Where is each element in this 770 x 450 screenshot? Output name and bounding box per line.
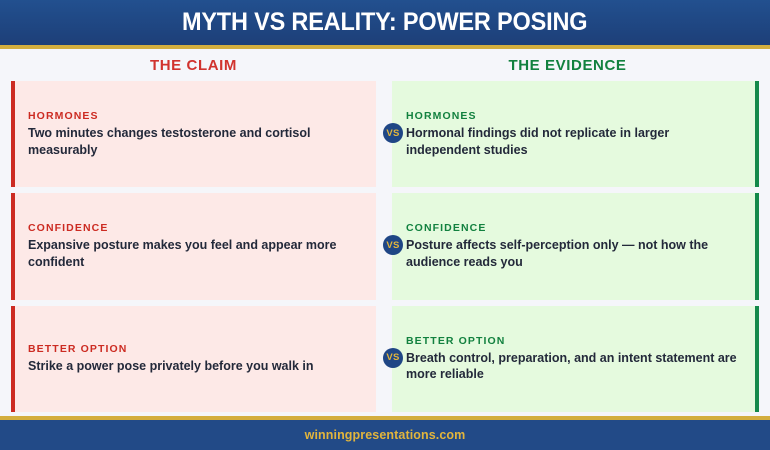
evidence-card-kicker: BETTER OPTION [406,335,737,347]
comparison-row: BETTER OPTION Strike a power pose privat… [11,306,759,412]
comparison-row: CONFIDENCE Expansive posture makes you f… [11,193,759,299]
header-bar: MYTH VS REALITY: POWER POSING [0,0,770,45]
evidence-card-kicker: CONFIDENCE [406,222,737,234]
infographic-poster: MYTH VS REALITY: POWER POSING THE CLAIM … [0,0,770,450]
claim-card: CONFIDENCE Expansive posture makes you f… [11,193,376,299]
evidence-card-kicker: HORMONES [406,110,737,122]
claim-card-body: Expansive posture makes you feel and app… [28,237,360,270]
evidence-card-body: Posture affects self-perception only — n… [406,237,737,270]
footer-website: winningpresentations.com [305,428,466,442]
evidence-card: CONFIDENCE Posture affects self-percepti… [392,193,759,299]
footer-bar: winningpresentations.com [0,420,770,450]
comparison-rows: HORMONES Two minutes changes testosteron… [0,81,770,416]
claim-card-kicker: HORMONES [28,110,360,122]
comparison-row: HORMONES Two minutes changes testosteron… [11,81,759,187]
claim-card-body: Strike a power pose privately before you… [28,358,360,375]
column-heading-evidence: THE EVIDENCE [376,57,759,74]
claim-card-body: Two minutes changes testosterone and cor… [28,125,360,158]
evidence-card-body: Hormonal findings did not replicate in l… [406,125,737,158]
column-headings: THE CLAIM THE EVIDENCE [0,49,770,81]
page-title: MYTH VS REALITY: POWER POSING [182,8,587,37]
vs-badge: VS [383,348,403,368]
evidence-card: HORMONES Hormonal findings did not repli… [392,81,759,187]
evidence-card: BETTER OPTION Breath control, preparatio… [392,306,759,412]
claim-card-kicker: CONFIDENCE [28,222,360,234]
column-heading-claim: THE CLAIM [11,57,376,74]
claim-card: HORMONES Two minutes changes testosteron… [11,81,376,187]
claim-card: BETTER OPTION Strike a power pose privat… [11,306,376,412]
evidence-card-body: Breath control, preparation, and an inte… [406,350,737,383]
claim-card-kicker: BETTER OPTION [28,343,360,355]
